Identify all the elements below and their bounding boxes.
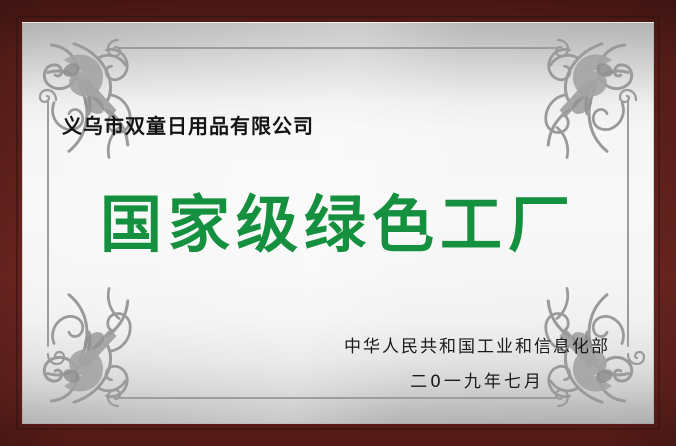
issuing-authority: 中华人民共和国工业和信息化部: [344, 332, 610, 357]
award-plaque: 义乌市双童日用品有限公司 国家级绿色工厂 中华人民共和国工业和信息化部 二0一九…: [0, 0, 676, 446]
issuer-block: 中华人民共和国工业和信息化部 二0一九年七月: [344, 332, 610, 392]
issue-date: 二0一九年七月: [344, 367, 610, 392]
plaque-content: 义乌市双童日用品有限公司 国家级绿色工厂 中华人民共和国工业和信息化部 二0一九…: [0, 0, 676, 446]
company-name: 义乌市双童日用品有限公司: [62, 110, 314, 139]
award-title: 国家级绿色工厂: [0, 192, 676, 257]
